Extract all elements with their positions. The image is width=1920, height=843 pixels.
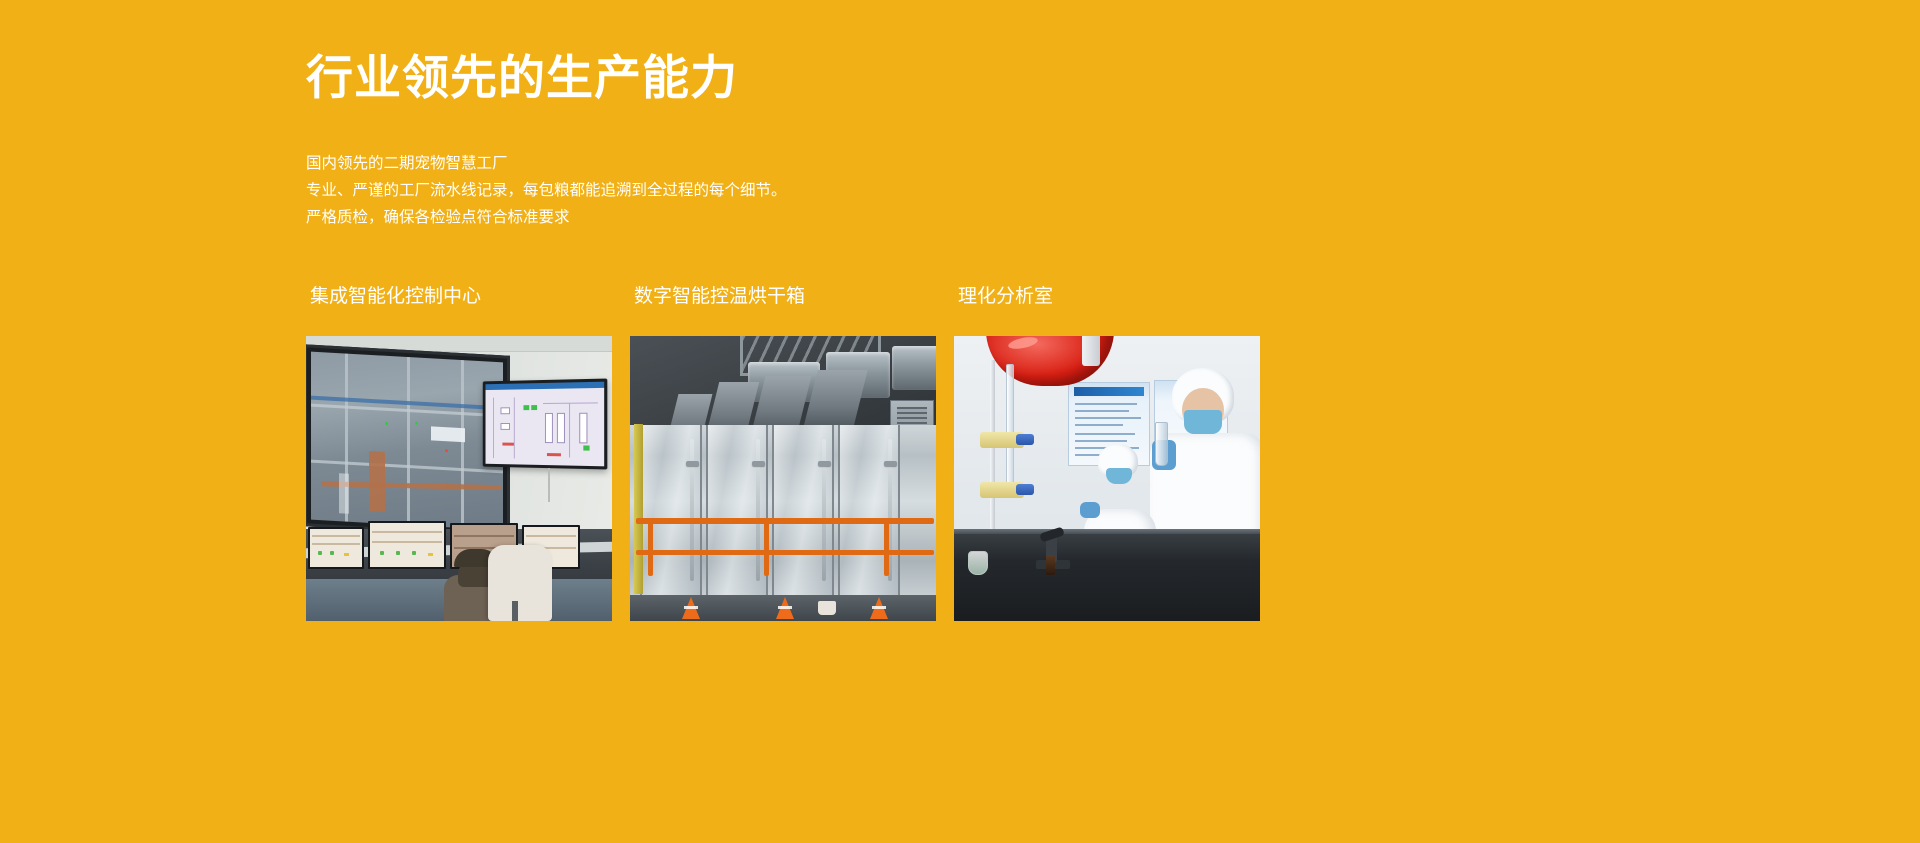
safety-railing xyxy=(884,518,889,576)
description-block: 国内领先的二期宠物智慧工厂 专业、严谨的工厂流水线记录，每包粮都能追溯到全过程的… xyxy=(306,150,787,231)
yellow-pipe xyxy=(634,424,643,594)
description-line-3: 严格质检，确保各检验点符合标准要求 xyxy=(306,204,787,231)
oven-door xyxy=(838,425,900,595)
facility-card[interactable]: 集成智能化控制中心 xyxy=(306,282,612,621)
card-caption: 理化分析室 xyxy=(954,282,1260,316)
gloved-hand xyxy=(1080,502,1100,518)
white-bucket xyxy=(818,601,836,615)
scada-screen xyxy=(486,382,605,467)
air-duct xyxy=(892,346,936,390)
burette xyxy=(1006,364,1014,496)
lamp-neck xyxy=(1082,336,1100,366)
production-capacity-section: 行业领先的生产能力 国内领先的二期宠物智慧工厂 专业、严谨的工厂流水线记录，每包… xyxy=(0,0,1920,843)
tv-cable xyxy=(548,468,550,502)
burette-clamp xyxy=(980,482,1024,498)
safety-railing xyxy=(636,518,934,524)
traffic-cone xyxy=(776,597,794,619)
glass-flask xyxy=(968,551,988,575)
facility-cards: 集成智能化控制中心 xyxy=(306,282,1614,621)
page-title: 行业领先的生产能力 xyxy=(306,47,738,109)
test-tube xyxy=(1155,422,1168,466)
face-mask xyxy=(1184,410,1222,434)
desk-monitor xyxy=(308,527,364,569)
facility-card[interactable]: 数字智能控温烘干箱 xyxy=(630,282,936,621)
oven-handle xyxy=(884,461,897,466)
wall-scada-display xyxy=(483,379,608,470)
traffic-cone xyxy=(870,597,888,619)
oven-door xyxy=(706,425,768,595)
factory-window xyxy=(306,344,510,538)
burette-clamp xyxy=(980,432,1024,448)
chair-leg xyxy=(512,601,518,621)
traffic-cone xyxy=(682,597,700,619)
drying-oven-photo[interactable] xyxy=(630,336,936,621)
description-line-1: 国内领先的二期宠物智慧工厂 xyxy=(306,150,787,177)
oven-handle xyxy=(686,461,699,466)
oven-cabinet-row xyxy=(630,425,936,595)
card-caption: 数字智能控温烘干箱 xyxy=(630,282,936,316)
card-caption: 集成智能化控制中心 xyxy=(306,282,612,316)
face-mask xyxy=(1106,468,1132,484)
safety-railing xyxy=(636,550,934,555)
oven-handle xyxy=(752,461,765,466)
desk-monitor xyxy=(368,521,446,569)
analysis-lab-photo[interactable] xyxy=(954,336,1260,621)
safety-railing xyxy=(764,518,769,576)
sample-vial xyxy=(1046,555,1055,575)
facility-card[interactable]: 理化分析室 xyxy=(954,282,1260,621)
description-line-2: 专业、严谨的工厂流水线记录，每包粮都能追溯到全过程的每个细节。 xyxy=(306,177,787,204)
clamp-knob xyxy=(1016,434,1034,445)
oven-door xyxy=(772,425,834,595)
window-glass xyxy=(311,352,503,531)
safety-railing xyxy=(648,518,653,576)
control-center-photo[interactable] xyxy=(306,336,612,621)
office-chair xyxy=(488,545,552,621)
lab-bench xyxy=(954,529,1260,621)
oven-handle xyxy=(818,461,831,466)
clamp-knob xyxy=(1016,484,1034,495)
